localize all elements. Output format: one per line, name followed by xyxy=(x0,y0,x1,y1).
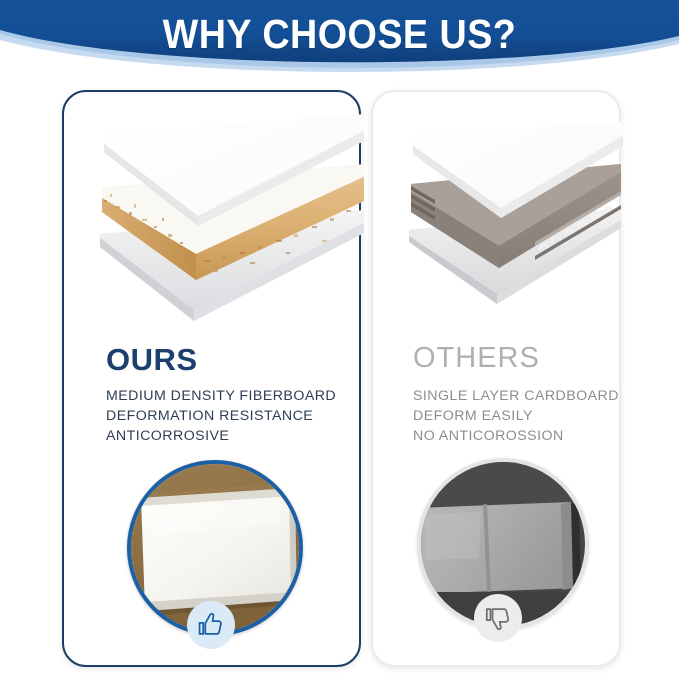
others-feature-list: SINGLE LAYER CARDBOARD DEFORM EASILY NO … xyxy=(413,386,619,446)
ours-feature-item: ANTICORROSIVE xyxy=(106,426,336,446)
others-feature-item: NO ANTICOROSSION xyxy=(413,426,619,446)
thumbs-up-badge xyxy=(187,601,235,649)
page-title: WHY CHOOSE US? xyxy=(27,11,652,58)
mdf-layered-board-illustration xyxy=(74,114,364,329)
comparison-card-ours: OURS MEDIUM DENSITY FIBERBOARD DEFORMATI… xyxy=(62,90,361,667)
ours-heading: OURS xyxy=(106,342,198,378)
thumbs-up-icon xyxy=(197,611,225,639)
others-heading: OTHERS xyxy=(413,342,540,375)
comparison-card-others: OTHERS SINGLE LAYER CARDBOARD DEFORM EAS… xyxy=(371,90,621,667)
header-banner: WHY CHOOSE US? xyxy=(0,0,679,84)
ours-feature-item: MEDIUM DENSITY FIBERBOARD xyxy=(106,386,336,406)
others-feature-item: DEFORM EASILY xyxy=(413,406,619,426)
ours-feature-item: DEFORMATION RESISTANCE xyxy=(106,406,336,426)
ours-feature-list: MEDIUM DENSITY FIBERBOARD DEFORMATION RE… xyxy=(106,386,336,446)
others-feature-item: SINGLE LAYER CARDBOARD xyxy=(413,386,619,406)
thumbs-down-icon xyxy=(484,604,512,632)
corrugated-cardboard-illustration xyxy=(389,122,624,312)
thumbs-down-badge xyxy=(474,594,522,642)
